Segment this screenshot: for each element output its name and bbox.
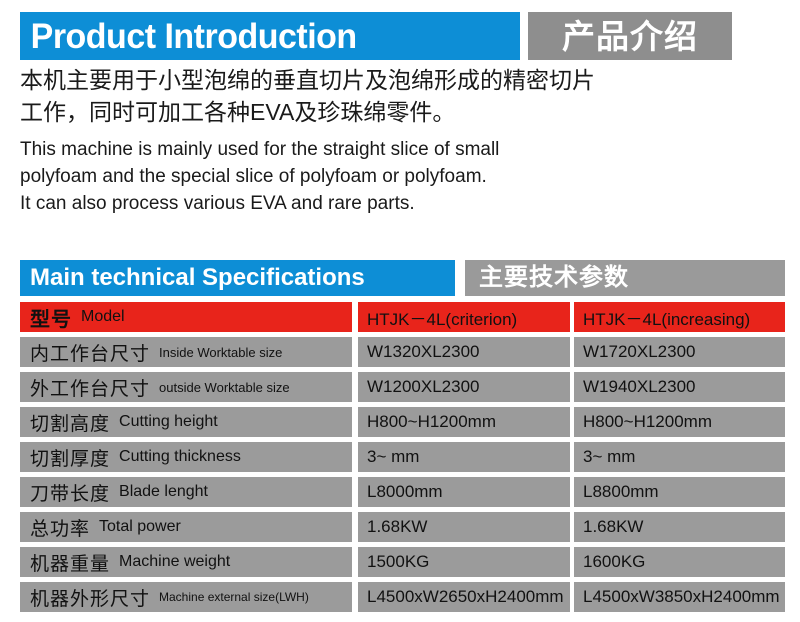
table-row: 切割厚度Cutting thickness3~ mm3~ mm: [20, 442, 785, 472]
table-row-column-2-value: 1600KG: [583, 552, 645, 572]
table-row-label-en: Machine external size(LWH): [159, 590, 309, 604]
table-row-column-2-cell: H800~H1200mm: [574, 407, 785, 437]
table-row-column-1-value: L4500xW2650xH2400mm: [367, 587, 564, 607]
intro-paragraph-english-line-1: This machine is mainly used for the stra…: [20, 136, 740, 163]
intro-banner-chinese-title: 产品介绍: [562, 20, 698, 53]
intro-banner-chinese-box: 产品介绍: [528, 12, 732, 60]
table-row-column-2-value: W1720XL2300: [583, 342, 695, 362]
specs-banner-chinese-title: 主要技术参数: [465, 266, 629, 290]
table-row-column-2-cell: L8800mm: [574, 477, 785, 507]
table-row: 外工作台尺寸outside Worktable sizeW1200XL2300W…: [20, 372, 785, 402]
table-row-label-cn: 内工作台尺寸: [30, 339, 150, 366]
intro-paragraph-chinese: 本机主要用于小型泡绵的垂直切片及泡绵形成的精密切片 工作，同时可加工各种EVA及…: [20, 64, 720, 128]
product-introduction-banner: Product Introduction 产品介绍: [20, 12, 732, 60]
table-header-column-1-value: HTJK－4L(criterion): [367, 305, 517, 330]
table-header-column-1-cell: HTJK－4L(criterion): [358, 302, 570, 332]
intro-banner-english-title: Product Introduction: [20, 19, 357, 54]
table-row: 刀带长度Blade lenghtL8000mmL8800mm: [20, 477, 785, 507]
intro-paragraph-english-line-3: It can also process various EVA and rare…: [20, 190, 740, 217]
table-row-label-cell: 内工作台尺寸Inside Worktable size: [20, 337, 352, 367]
table-row-label-cell: 外工作台尺寸outside Worktable size: [20, 372, 352, 402]
table-row-label-en: Cutting thickness: [119, 448, 241, 466]
table-row-column-2-value: 1.68KW: [583, 517, 643, 537]
table-header-model-label-en: Model: [81, 308, 125, 326]
intro-paragraph-chinese-line-2: 工作，同时可加工各种EVA及珍珠绵零件。: [20, 96, 720, 128]
table-row-column-1-cell: L4500xW2650xH2400mm: [358, 582, 570, 612]
intro-paragraph-english-line-2: polyfoam and the special slice of polyfo…: [20, 163, 740, 190]
specs-banner-chinese-box: 主要技术参数: [465, 260, 785, 296]
table-row: 机器重量Machine weight1500KG1600KG: [20, 547, 785, 577]
table-row-column-1-cell: W1200XL2300: [358, 372, 570, 402]
table-row-label-cn: 切割高度: [30, 409, 110, 436]
table-row: 总功率Total power1.68KW1.68KW: [20, 512, 785, 542]
table-row-label-cn: 机器外形尺寸: [30, 584, 150, 611]
table-row-label-cell: 切割高度Cutting height: [20, 407, 352, 437]
table-row-column-2-value: W1940XL2300: [583, 377, 695, 397]
table-row-column-2-value: L4500xW3850xH2400mm: [583, 587, 780, 607]
table-row-label-en: Inside Worktable size: [159, 345, 282, 360]
table-row-label-cn: 外工作台尺寸: [30, 374, 150, 401]
table-row-column-1-value: W1320XL2300: [367, 342, 479, 362]
table-row: 内工作台尺寸Inside Worktable sizeW1320XL2300W1…: [20, 337, 785, 367]
table-row-label-cell: 切割厚度Cutting thickness: [20, 442, 352, 472]
table-row-column-2-cell: 1600KG: [574, 547, 785, 577]
table-row-label-cn: 切割厚度: [30, 444, 110, 471]
table-row-column-1-value: 1500KG: [367, 552, 429, 572]
table-row-column-1-cell: 1500KG: [358, 547, 570, 577]
table-row-label-cn: 刀带长度: [30, 479, 110, 506]
table-row-column-1-cell: W1320XL2300: [358, 337, 570, 367]
table-row-column-1-cell: L8000mm: [358, 477, 570, 507]
table-row-label-cn: 机器重量: [30, 549, 110, 576]
table-body: 内工作台尺寸Inside Worktable sizeW1320XL2300W1…: [20, 337, 785, 612]
table-header-row: 型号 Model HTJK－4L(criterion) HTJK－4L(incr…: [20, 302, 785, 332]
table-row-column-2-value: L8800mm: [583, 482, 659, 502]
table-row-column-1-value: 3~ mm: [367, 447, 419, 467]
table-row-label-en: Blade lenght: [119, 483, 208, 501]
specs-banner-english-title: Main technical Specifications: [20, 266, 365, 290]
table-header-model-cell: 型号 Model: [20, 302, 352, 332]
table-header-column-2-cell: HTJK－4L(increasing): [574, 302, 785, 332]
intro-banner-english-box: Product Introduction: [20, 12, 520, 60]
specifications-table: 型号 Model HTJK－4L(criterion) HTJK－4L(incr…: [20, 302, 785, 617]
table-row: 切割高度Cutting heightH800~H1200mmH800~H1200…: [20, 407, 785, 437]
table-row-label-en: Total power: [99, 518, 181, 536]
table-row-column-2-cell: 1.68KW: [574, 512, 785, 542]
table-row-column-2-value: H800~H1200mm: [583, 412, 712, 432]
intro-paragraph-chinese-line-1: 本机主要用于小型泡绵的垂直切片及泡绵形成的精密切片: [20, 64, 720, 96]
table-row-column-1-value: L8000mm: [367, 482, 443, 502]
specs-banner-english-box: Main technical Specifications: [20, 260, 455, 296]
table-row-column-2-cell: W1720XL2300: [574, 337, 785, 367]
table-row-label-cell: 机器重量Machine weight: [20, 547, 352, 577]
table-row-label-en: Cutting height: [119, 413, 218, 431]
table-row-column-1-value: 1.68KW: [367, 517, 427, 537]
specifications-banner: Main technical Specifications 主要技术参数: [20, 260, 785, 296]
table-row-column-2-value: 3~ mm: [583, 447, 635, 467]
table-row-label-cell: 刀带长度Blade lenght: [20, 477, 352, 507]
table-row-column-1-cell: 3~ mm: [358, 442, 570, 472]
table-row-column-2-cell: L4500xW3850xH2400mm: [574, 582, 785, 612]
table-row-label-en: Machine weight: [119, 553, 230, 571]
table-row-column-1-value: H800~H1200mm: [367, 412, 496, 432]
table-row-label-en: outside Worktable size: [159, 380, 290, 395]
table-row-column-1-cell: H800~H1200mm: [358, 407, 570, 437]
table-row-column-2-cell: 3~ mm: [574, 442, 785, 472]
table-row-label-cn: 总功率: [30, 514, 90, 541]
table-row-label-cell: 总功率Total power: [20, 512, 352, 542]
table-row: 机器外形尺寸Machine external size(LWH)L4500xW2…: [20, 582, 785, 612]
intro-paragraph-english: This machine is mainly used for the stra…: [20, 136, 740, 217]
table-row-column-1-cell: 1.68KW: [358, 512, 570, 542]
table-row-label-cell: 机器外形尺寸Machine external size(LWH): [20, 582, 352, 612]
table-header-model-label-cn: 型号: [30, 303, 72, 332]
table-row-column-1-value: W1200XL2300: [367, 377, 479, 397]
table-row-column-2-cell: W1940XL2300: [574, 372, 785, 402]
table-header-column-2-value: HTJK－4L(increasing): [583, 305, 750, 330]
